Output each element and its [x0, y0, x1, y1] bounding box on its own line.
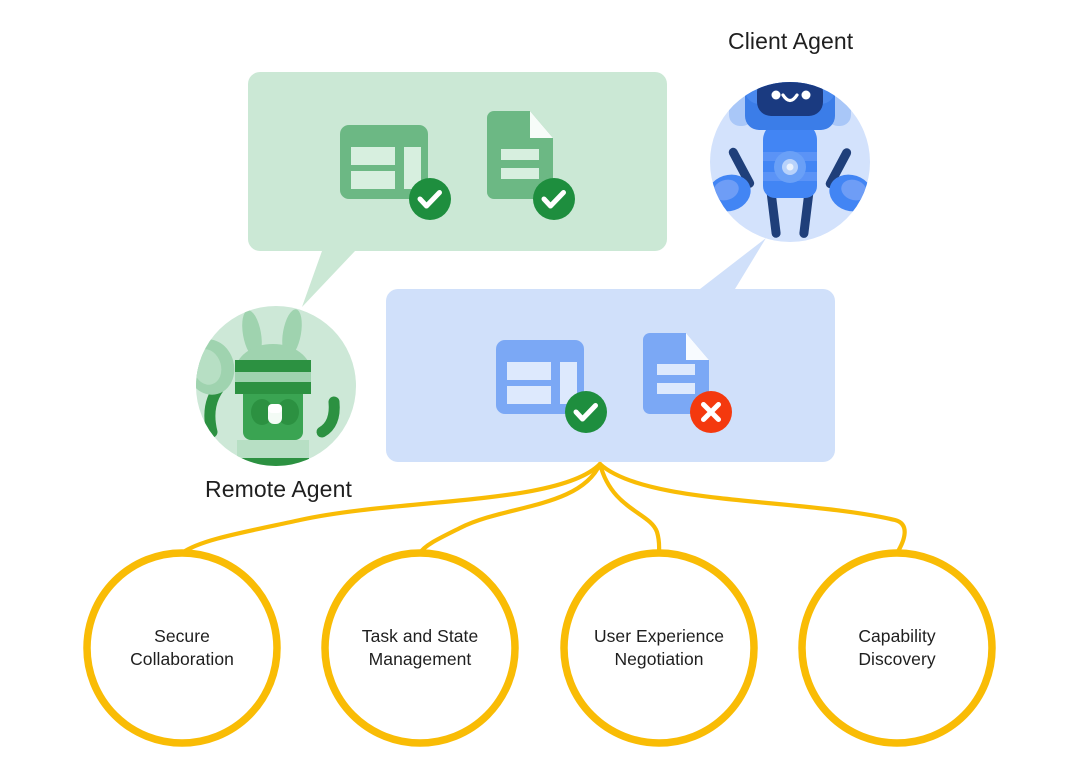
- capability-circle-user-experience-negotiation[interactable]: [564, 553, 754, 743]
- check-circle-icon: [409, 178, 451, 220]
- diagram-canvas: Client Agent Remote Agent Secure Collabo…: [0, 0, 1080, 768]
- client-bubble-shape: [386, 238, 835, 462]
- check-circle-icon: [565, 391, 607, 433]
- capability-circle-task-and-state-management[interactable]: [325, 553, 515, 743]
- client-agent-label: Client Agent: [0, 28, 1080, 55]
- x-circle-icon: [690, 391, 732, 433]
- client-agent-avatar: [703, 68, 878, 242]
- diagram-graphics: [0, 0, 1080, 768]
- capability-circle-secure-collaboration[interactable]: [87, 553, 277, 743]
- capability-circles: [87, 553, 992, 743]
- remote-agent-bubble: [248, 72, 667, 307]
- check-circle-icon: [533, 178, 575, 220]
- remote-agent-avatar: [179, 306, 356, 480]
- remote-agent-label: Remote Agent: [205, 476, 352, 503]
- client-agent-bubble: [386, 238, 835, 462]
- remote-bubble-shape: [248, 72, 667, 307]
- capability-circle-capability-discovery[interactable]: [802, 553, 992, 743]
